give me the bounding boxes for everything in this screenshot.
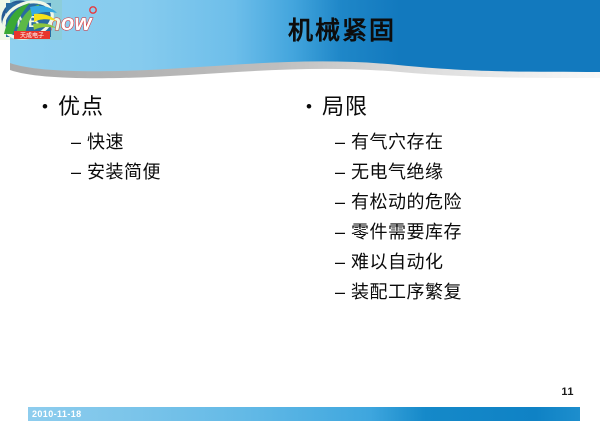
list-item: – 安装简便 xyxy=(71,157,288,187)
content-column-right: • 局限 – 有气穴存在 – 无电气绝缘 – 有松动的危险 – 零件需要库存 – xyxy=(302,92,572,307)
list-item: – 零件需要库存 xyxy=(335,217,572,247)
slide-header: unow NB 天成电子 机械紧固 xyxy=(0,0,600,86)
list-item-label: 无电气绝缘 xyxy=(351,157,444,187)
bullet-dash-icon: – xyxy=(71,157,87,187)
list-item-label: 安装简便 xyxy=(87,157,161,187)
list-item-label: 有松动的危险 xyxy=(351,187,462,217)
slide: unow NB 天成电子 机械紧固 xyxy=(0,0,600,424)
svg-text:天成电子: 天成电子 xyxy=(20,32,44,40)
list-item-label: 零件需要库存 xyxy=(351,217,462,247)
slide-body: • 优点 – 快速 – 安装简便 • 局限 – 有气穴存在 – xyxy=(0,92,600,382)
list-item-label: 难以自动化 xyxy=(351,247,444,277)
list-item-label: 快速 xyxy=(87,127,124,157)
list-item: – 快速 xyxy=(71,127,288,157)
bullet-dash-icon: – xyxy=(335,157,351,187)
content-column-left: • 优点 – 快速 – 安装简便 xyxy=(38,92,288,187)
list-item: – 有气穴存在 xyxy=(335,127,572,157)
bullet-dash-icon: – xyxy=(335,277,351,307)
footer-date: 2010-11-18 xyxy=(32,408,82,421)
bullet-dash-icon: – xyxy=(335,247,351,277)
bullet-dash-icon: – xyxy=(335,187,351,217)
tiancheng-electronics-logo: 天成电子 xyxy=(0,0,62,40)
bullet-heading-limitations: • 局限 xyxy=(302,92,572,122)
bullet-dash-icon: – xyxy=(71,127,87,157)
heading-label: 优点 xyxy=(58,92,104,122)
footer-bar xyxy=(28,407,580,421)
bullet-heading-advantages: • 优点 xyxy=(38,92,288,122)
bullet-dash-icon: – xyxy=(335,217,351,247)
list-item: – 难以自动化 xyxy=(335,247,572,277)
list-item-label: 有气穴存在 xyxy=(351,127,444,157)
list-item: – 装配工序繁复 xyxy=(335,277,572,307)
page-title: 机械紧固 xyxy=(288,16,396,46)
list-item-label: 装配工序繁复 xyxy=(351,277,462,307)
bullet-dot-icon: • xyxy=(38,92,58,122)
bullet-dot-icon: • xyxy=(302,92,322,122)
page-number: 11 xyxy=(561,386,574,398)
list-item: – 有松动的危险 xyxy=(335,187,572,217)
bullet-dash-icon: – xyxy=(335,127,351,157)
list-item: – 无电气绝缘 xyxy=(335,157,572,187)
heading-label: 局限 xyxy=(322,92,368,122)
